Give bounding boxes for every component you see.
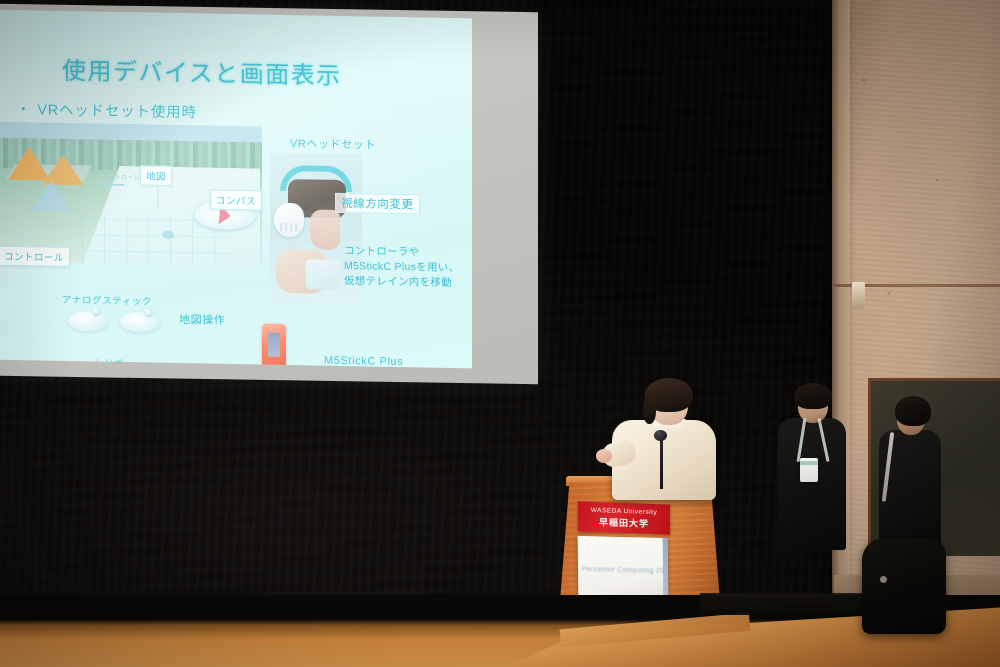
- label-analog-stick: アナログスティック: [62, 292, 152, 308]
- vr-controller-right-icon: [120, 312, 160, 333]
- conference-sign: Pervasive Computing 25: [578, 536, 669, 604]
- analog-stick-icon: [92, 307, 101, 316]
- stage-floor-shadow: [700, 593, 880, 615]
- attendee-one-badge: [800, 458, 818, 482]
- slide-bullet-text: VRヘッドセット使用時: [37, 102, 196, 121]
- wall-bracket: [852, 282, 865, 308]
- presenter-hand: [596, 449, 612, 463]
- slide-bullet-line: ・VRヘッドセット使用時: [16, 98, 197, 122]
- backpack-buckle-icon: [880, 576, 887, 583]
- microphone-stand: [660, 437, 663, 489]
- callout-movement-note: コントローラや M5StickC Plusを用い、 仮想テレイン内を移動: [344, 244, 459, 291]
- attendee-one-hair: [794, 383, 832, 409]
- attendee-two-hair: [895, 396, 931, 426]
- callout-map: 地図: [140, 165, 172, 186]
- backpack: [862, 538, 946, 634]
- wall-pillar: [832, 0, 850, 667]
- slide-title: 使用デバイスと画面表示: [62, 51, 342, 91]
- label-map-operation: 地図操作: [179, 311, 225, 328]
- headset-vents: [280, 223, 298, 231]
- projected-slide: 使用デバイスと画面表示 ・VRヘッドセット使用時 コントロール: [0, 10, 472, 369]
- conference-stage-scene: 使用デバイスと画面表示 ・VRヘッドセット使用時 コントロール: [0, 0, 1000, 667]
- attendee-one-body: [778, 418, 846, 550]
- callout-compass: コンパス: [210, 190, 262, 211]
- m5stickc-screen: [268, 333, 280, 357]
- waseda-banner: WASEDA University 早稲田大学: [578, 501, 670, 534]
- m5stickc-plus-photo: [262, 324, 286, 369]
- microphone-head-icon: [654, 430, 667, 441]
- map-plane-underline: [102, 184, 124, 186]
- presenter-hair-side: [643, 396, 656, 424]
- bullet-marker-icon: ・: [16, 102, 31, 118]
- headset-side-pod: [274, 203, 304, 238]
- analog-stick-icon: [144, 308, 153, 317]
- banner-japanese-text: 早稲田大学: [599, 515, 649, 530]
- label-vr-headset: VRヘッドセット: [290, 135, 376, 153]
- conference-logo-text: Pervasive Computing 25: [582, 564, 665, 575]
- callout-control: コントロール: [0, 246, 70, 267]
- map-plane-label: コントロール: [102, 172, 140, 182]
- callout-gaze-direction: 視線方向変更: [335, 193, 420, 215]
- wearer-face: [310, 209, 340, 250]
- vr-controller-left-icon: [68, 311, 108, 332]
- badge-stripe: [800, 461, 818, 465]
- terrain-marker-dot: [162, 231, 174, 239]
- terrain-cone-icon: [30, 180, 72, 211]
- handheld-device: [306, 259, 340, 290]
